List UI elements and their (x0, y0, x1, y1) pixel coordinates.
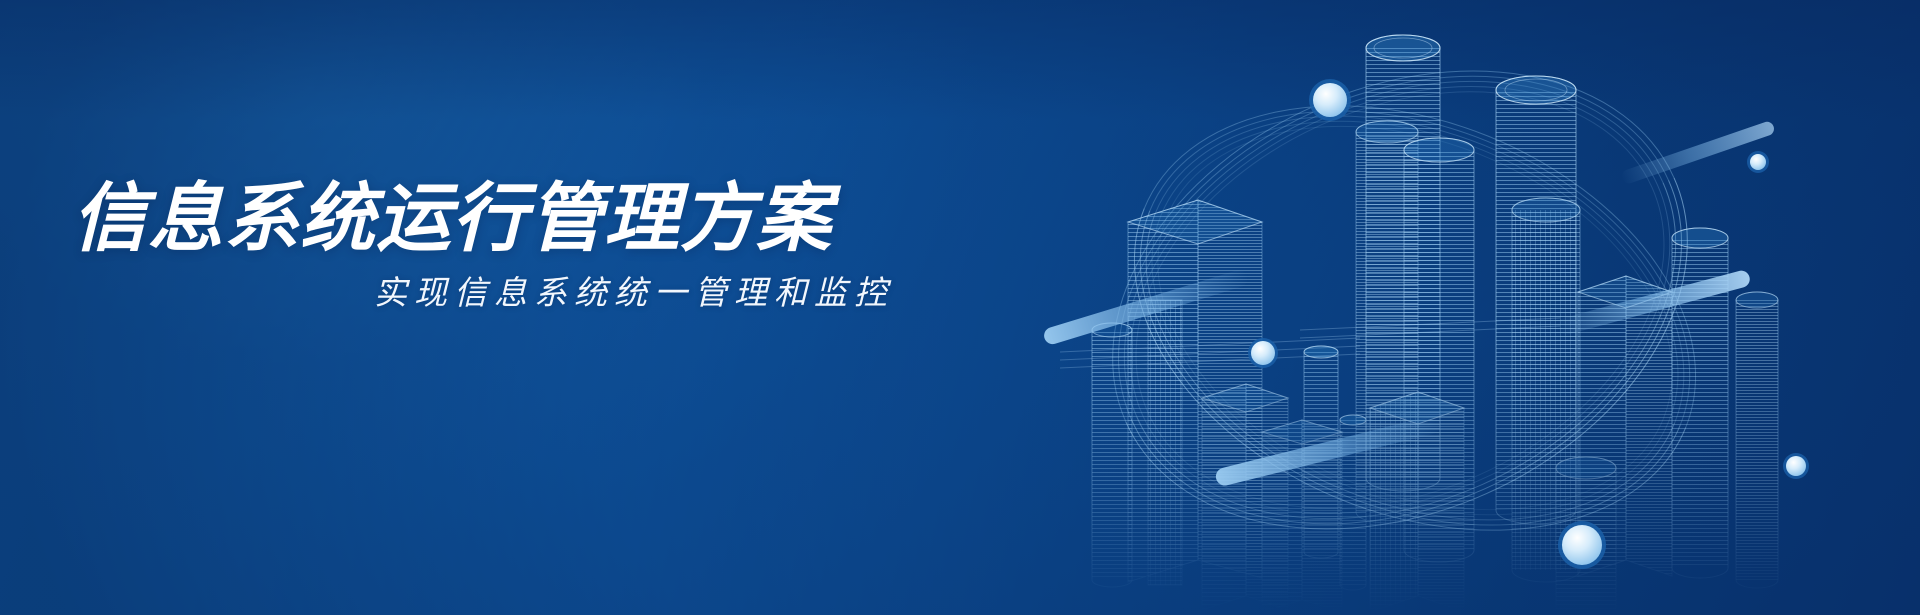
dot-upper-left (1309, 79, 1351, 121)
banner-title: 信息系统运行管理方案 (72, 178, 902, 259)
dot-lower-right (1783, 453, 1809, 479)
dot-upper-right (1747, 151, 1769, 173)
dot-mid-left (1248, 338, 1278, 368)
building-13 (1736, 292, 1778, 588)
banner-text-block: 信息系统运行管理方案 实现信息系统统一管理和监控 (72, 178, 902, 313)
building-03 (1148, 300, 1182, 585)
hero-banner: 信息系统运行管理方案 实现信息系统统一管理和监控 (0, 0, 1920, 615)
city-buildings (1060, 35, 1778, 615)
wireframe-city-illustration (1000, 0, 1920, 615)
banner-subtitle: 实现信息系统统一管理和监控 (72, 273, 902, 313)
dot-bottom-center (1558, 521, 1606, 569)
building-01 (1092, 323, 1132, 587)
